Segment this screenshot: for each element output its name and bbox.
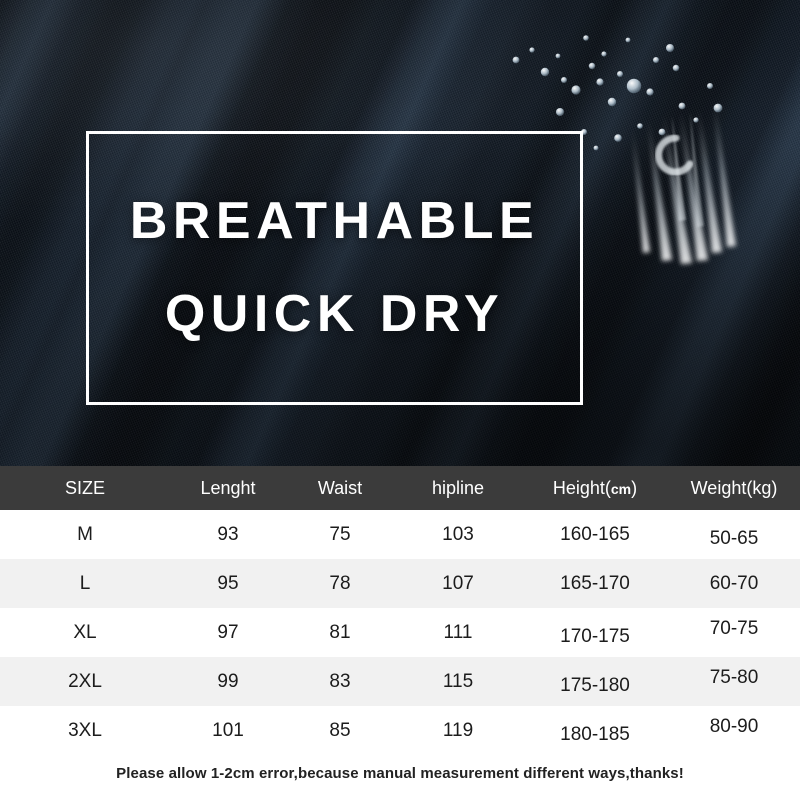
cell-weight: 75-80 (668, 667, 800, 689)
column-header-waist: Waist (286, 478, 394, 499)
hero-fabric-photo: BREATHABLE QUICK DRY (0, 0, 800, 466)
height-unit-text: cm (611, 481, 631, 497)
cell-weight: 80-90 (668, 716, 800, 738)
cell-hipline: 115 (394, 671, 522, 693)
headline-line-2: QUICK DRY (165, 284, 504, 345)
cell-waist: 81 (286, 622, 394, 644)
cell-waist: 75 (286, 524, 394, 546)
cell-height: 165-170 (522, 573, 668, 595)
column-header-size: SIZE (0, 478, 170, 499)
cell-height: 175-180 (522, 675, 668, 697)
cell-length: 99 (170, 671, 286, 693)
cell-weight: 60-70 (668, 573, 800, 595)
table-header-row: SIZE Lenght Waist hipline Height(cm) Wei… (0, 466, 800, 510)
cell-weight: 70-75 (668, 618, 800, 640)
cell-height: 180-185 (522, 724, 668, 746)
table-row: XL 97 81 111 170-175 70-75 (0, 608, 800, 657)
cell-waist: 83 (286, 671, 394, 693)
cell-size: 2XL (0, 671, 170, 693)
cell-waist: 78 (286, 573, 394, 595)
cell-hipline: 111 (394, 622, 522, 644)
cell-length: 95 (170, 573, 286, 595)
cell-height: 170-175 (522, 626, 668, 648)
cell-size: M (0, 524, 170, 546)
measurement-disclaimer-note: Please allow 1-2cm error,because manual … (0, 765, 800, 782)
height-label-text: Height( (553, 478, 611, 498)
cell-hipline: 103 (394, 524, 522, 546)
cell-weight: 50-65 (668, 528, 800, 550)
cell-length: 101 (170, 720, 286, 742)
product-size-chart-page: BREATHABLE QUICK DRY SIZE Lenght Waist h… (0, 0, 800, 800)
table-row: M 93 75 103 160-165 50-65 (0, 510, 800, 559)
column-header-hipline: hipline (394, 478, 522, 499)
cell-size: XL (0, 622, 170, 644)
headline-block: BREATHABLE QUICK DRY (86, 131, 583, 405)
column-header-height: Height(cm) (522, 478, 668, 499)
column-header-weight: Weight(kg) (668, 478, 800, 499)
column-header-length: Lenght (170, 478, 286, 499)
cell-length: 97 (170, 622, 286, 644)
cell-hipline: 119 (394, 720, 522, 742)
table-row: 2XL 99 83 115 175-180 75-80 (0, 657, 800, 706)
cell-hipline: 107 (394, 573, 522, 595)
cell-length: 93 (170, 524, 286, 546)
cell-size: 3XL (0, 720, 170, 742)
size-chart-table: SIZE Lenght Waist hipline Height(cm) Wei… (0, 466, 800, 755)
headline-line-1: BREATHABLE (130, 191, 539, 252)
height-label-close: ) (631, 478, 637, 498)
table-row: L 95 78 107 165-170 60-70 (0, 559, 800, 608)
cell-size: L (0, 573, 170, 595)
cell-height: 160-165 (522, 524, 668, 546)
cell-waist: 85 (286, 720, 394, 742)
table-row: 3XL 101 85 119 180-185 80-90 (0, 706, 800, 755)
